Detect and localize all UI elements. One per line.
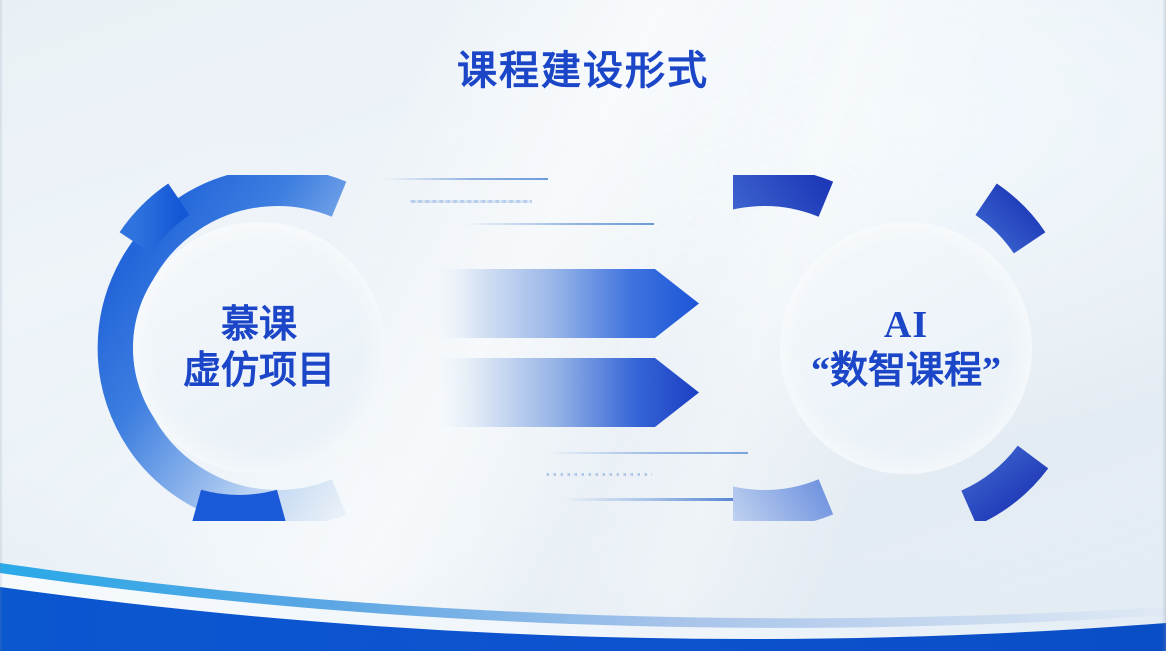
right-ring-label-line2: “数智课程”	[811, 348, 1001, 394]
left-ring-label-line1: 慕课	[221, 302, 297, 348]
right-ring-accent-top	[986, 199, 1030, 243]
right-ring-accent-bottom	[969, 457, 1033, 508]
right-ring-label-group: AI “数智课程”	[780, 222, 1032, 474]
flow-arrows-group	[437, 258, 729, 438]
slide-canvas: 课程建设形式	[0, 0, 1166, 651]
bottom-wave-banner	[0, 511, 1166, 651]
flow-arrow-upper	[437, 269, 699, 338]
slide-title: 课程建设形式	[0, 38, 1166, 96]
right-ring-node[interactable]: AI “数智课程”	[733, 175, 1079, 521]
left-ring-label-group: 慕课 虚仿项目	[133, 222, 385, 474]
right-ring-label-line1: AI	[884, 302, 928, 348]
left-ring-node[interactable]: 慕课 虚仿项目	[86, 175, 432, 521]
left-ring-label-line2: 虚仿项目	[183, 348, 335, 394]
flow-arrow-lower	[437, 358, 699, 427]
